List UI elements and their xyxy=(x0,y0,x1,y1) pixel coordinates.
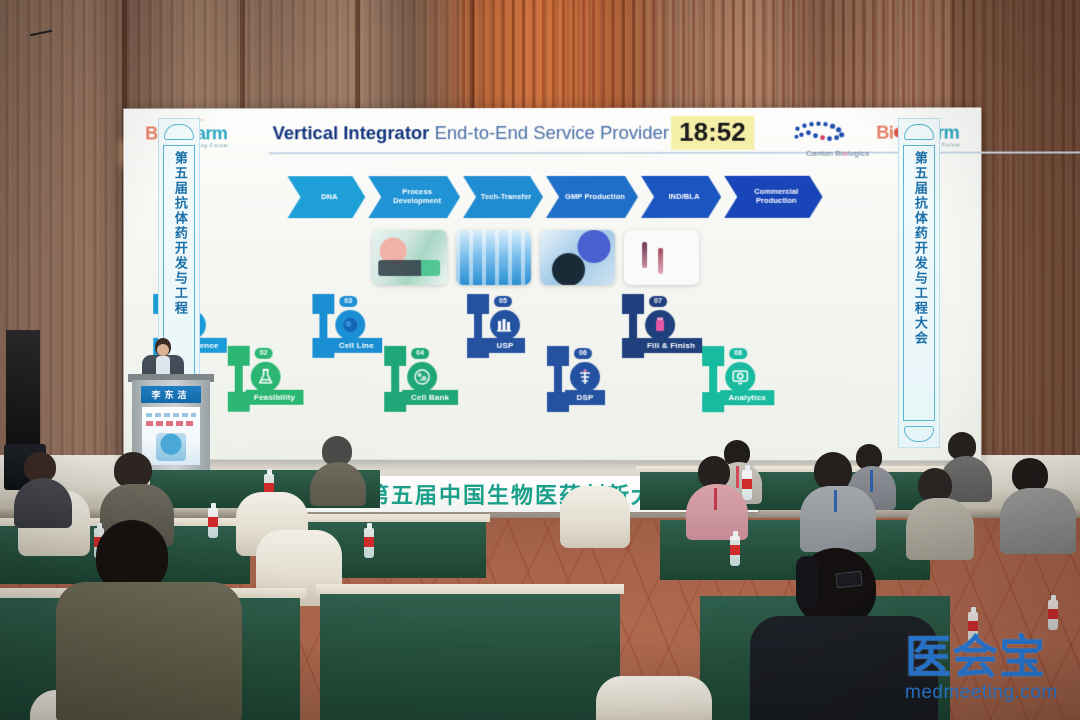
node-label: Feasibility xyxy=(246,390,304,405)
node-label: DSP xyxy=(565,390,605,405)
water-bottle xyxy=(730,536,740,566)
banner-ornament-icon xyxy=(164,124,194,140)
node-label: Analytics xyxy=(720,390,774,405)
column-icon xyxy=(570,362,600,392)
banner-ornament-icon xyxy=(904,426,934,442)
cell-icon xyxy=(335,310,365,340)
node-number-badge: 05 xyxy=(494,296,512,307)
smartphone xyxy=(835,571,862,589)
vial-icon xyxy=(645,310,675,340)
node-marker xyxy=(547,346,569,366)
water-bottle xyxy=(742,470,752,500)
node-number-badge: 03 xyxy=(339,296,357,307)
thumbnail-vials-photo xyxy=(624,230,699,285)
process-step-label: Process Development xyxy=(382,188,452,205)
node-marker xyxy=(467,294,489,314)
table-row xyxy=(316,584,624,594)
podium-poster xyxy=(142,407,200,465)
node-marker xyxy=(228,346,250,366)
slide-title-light: End-to-End Service Provider xyxy=(435,122,669,143)
process-step-gmp-production: GMP Production xyxy=(546,176,638,218)
pa-speaker xyxy=(6,330,40,450)
stage-banner-text: 第五届中国生物医药创新大会 xyxy=(367,478,679,510)
node-label: Fill & Finish xyxy=(640,338,702,353)
process-step-tech-transfer: Tech-Transfer xyxy=(463,176,543,218)
node-number-badge: 02 xyxy=(255,348,273,359)
lanyard xyxy=(870,470,873,492)
watermark-logo-text: 医会宝 xyxy=(905,636,1075,680)
node-number-badge: 06 xyxy=(574,348,592,359)
process-step-commercial-production: Commercial Production xyxy=(724,176,822,218)
process-step-label: IND/BLA xyxy=(669,193,700,202)
canton-dots-icon xyxy=(787,118,867,148)
slide-header: ·˙·ˑ· BiPharm Partnering Forum Vertical … xyxy=(123,107,981,164)
logo-text-bio: Bi xyxy=(876,123,893,143)
node-number-badge: 08 xyxy=(729,348,747,359)
node-label: Cell Line xyxy=(330,338,382,353)
conference-photo: ·˙·ˑ· BiPharm Partnering Forum Vertical … xyxy=(0,0,1080,720)
water-bottle xyxy=(1048,600,1058,630)
process-step-label: GMP Production xyxy=(565,193,625,202)
monitor-icon xyxy=(725,362,755,392)
node-marker xyxy=(702,346,724,366)
canton-biologics-logo: Canton Biologics xyxy=(787,118,867,162)
thumbnail-pipetting-photo xyxy=(372,230,447,285)
table-row xyxy=(320,592,620,720)
process-step-label: DNA xyxy=(321,193,338,202)
bioreactor-icon xyxy=(490,310,520,340)
process-step-ind-bla: IND/BLA xyxy=(641,176,721,218)
node-label: Cell Bank xyxy=(402,390,458,405)
banner-left-text: 第五届抗体药开发与工程 xyxy=(172,151,186,316)
node-marker xyxy=(622,294,644,314)
flask-icon xyxy=(251,362,281,392)
vertical-banner-right: 第五届抗体药开发与工程大会 xyxy=(898,118,940,448)
watermark-url: medmeeting.com xyxy=(905,682,1075,704)
banner-right-text: 第五届抗体药开发与工程大会 xyxy=(912,151,926,346)
process-step-process-development: Process Development xyxy=(368,176,460,218)
process-step-label: Tech-Transfer xyxy=(481,193,531,202)
water-bottle xyxy=(364,528,374,558)
raised-arm xyxy=(796,556,810,596)
podium-nameplate: 李东洁 xyxy=(141,386,201,403)
chair xyxy=(596,676,712,720)
banner-ornament-icon xyxy=(904,124,934,140)
node-marker xyxy=(384,346,406,366)
countdown-timer: 18:52 xyxy=(671,116,754,150)
water-bottle xyxy=(208,508,218,538)
thumbnail-bioreactor-photo xyxy=(456,230,531,285)
process-step-label: Commercial Production xyxy=(738,188,814,205)
lanyard xyxy=(736,466,739,488)
node-label: USP xyxy=(485,338,525,353)
speaker-name: 李东洁 xyxy=(151,388,190,401)
thumbnail-centrifuge-photo xyxy=(540,230,615,285)
watermark: 医会宝 medmeeting.com xyxy=(905,636,1075,704)
chair xyxy=(560,486,630,548)
node-marker xyxy=(312,294,334,314)
node-number-badge: 04 xyxy=(411,348,429,359)
process-flow-diagram: DNAProcess DevelopmentTech-TransferGMP P… xyxy=(288,176,826,218)
slide-title-strong: Vertical Integrator xyxy=(273,122,430,143)
projection-screen: ·˙·ˑ· BiPharm Partnering Forum Vertical … xyxy=(123,107,981,460)
canton-biologics-name: Canton Biologics xyxy=(787,149,887,158)
process-step-dna: DNA xyxy=(288,176,366,218)
workflow-node-diagram: 01Sequence02Feasibility03Cell Line04Cell… xyxy=(123,294,981,445)
cell-bank-icon xyxy=(407,362,437,392)
speaker-face xyxy=(157,344,169,356)
photo-thumbnail-strip xyxy=(372,230,699,285)
lanyard xyxy=(714,488,717,510)
title-underline xyxy=(269,151,1080,154)
node-number-badge: 07 xyxy=(649,296,667,307)
lanyard xyxy=(834,490,837,512)
table-row xyxy=(636,466,944,472)
